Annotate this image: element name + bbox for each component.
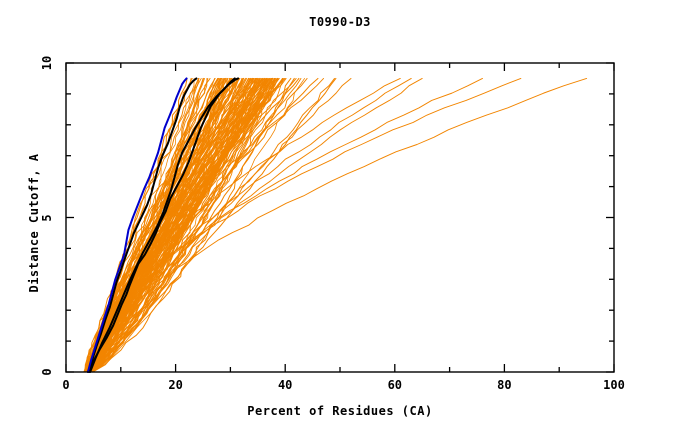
x-tick-label: 100 [594, 378, 634, 392]
x-axis-label: Percent of Residues (CA) [66, 404, 614, 418]
chart-root: T0990-D3 Percent of Residues (CA) Distan… [0, 0, 680, 440]
y-tick-label-wrapper: 0 [40, 357, 54, 387]
y-tick-label: 0 [40, 357, 54, 387]
y-axis-label: Distance Cutoff, A [27, 68, 41, 378]
prediction-curve-outlier [89, 78, 422, 372]
plot-area [0, 0, 680, 440]
x-tick-label: 80 [484, 378, 524, 392]
y-tick-label-wrapper: 10 [40, 48, 54, 78]
y-tick-label: 5 [40, 203, 54, 233]
y-tick-label: 10 [40, 48, 54, 78]
x-tick-label: 60 [375, 378, 415, 392]
x-tick-label: 40 [265, 378, 305, 392]
x-tick-label: 20 [156, 378, 196, 392]
y-tick-label-wrapper: 5 [40, 203, 54, 233]
